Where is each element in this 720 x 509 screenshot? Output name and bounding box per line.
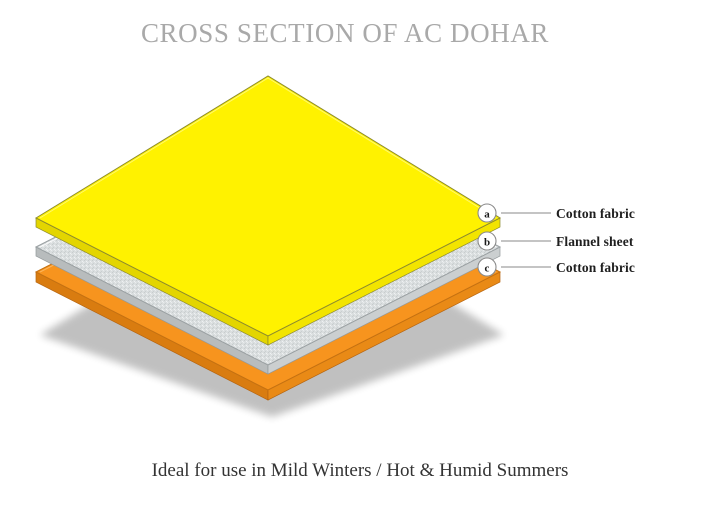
badge-b[interactable]: b [478, 232, 496, 250]
callout-label-b: Flannel sheet [556, 234, 633, 250]
page-caption: Ideal for use in Mild Winters / Hot & Hu… [0, 460, 720, 482]
callout-label-a: Cotton fabric [556, 206, 635, 222]
badge-b-letter: b [484, 237, 490, 249]
badge-a-letter: a [484, 209, 490, 221]
callout-badges[interactable]: a b c [478, 204, 496, 276]
badge-c-letter: c [485, 263, 490, 275]
leader-lines [501, 213, 551, 267]
diagram-page: CROSS SECTION OF AC DOHAR [0, 0, 720, 509]
badge-a[interactable]: a [478, 204, 496, 222]
layer-stack-diagram: a b c [0, 0, 720, 509]
callout-label-c: Cotton fabric [556, 260, 635, 276]
badge-c[interactable]: c [478, 258, 496, 276]
